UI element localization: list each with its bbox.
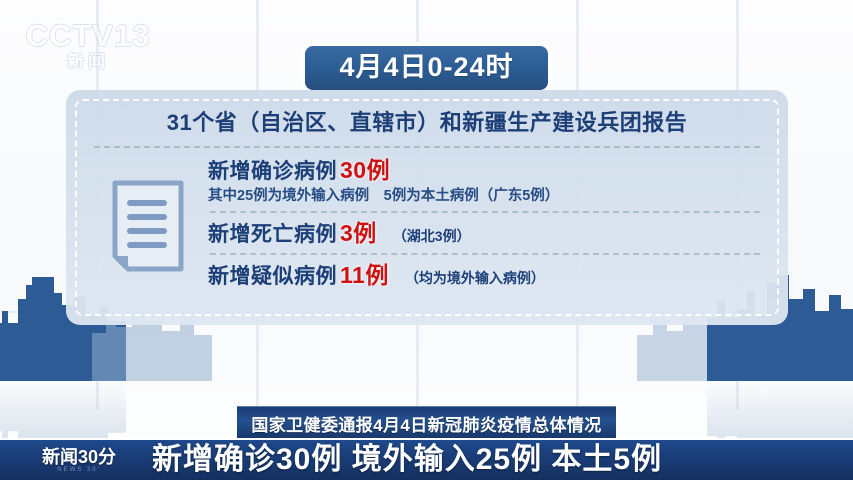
stats-rows: 新增确诊病例 30例 其中25例为境外输入病例 5例为本土病例（广东5例） 新增… (204, 150, 762, 295)
stat-label: 新增疑似病例 (208, 265, 337, 289)
stat-label: 新增确诊病例 (208, 160, 337, 184)
ticker-bottom-bar: 新闻30分 NEWS 30' 新增确诊30例 境外输入25例 本土5例 (0, 438, 853, 480)
stat-row-suspected: 新增疑似病例 11例 （均为境外输入病例） (208, 255, 762, 295)
document-icon (92, 150, 204, 295)
row-separator (210, 211, 760, 213)
date-banner: 4月4日0-24时 (305, 46, 547, 90)
date-banner-container: 4月4日0-24时 (0, 42, 853, 94)
stats-panel: 31个省（自治区、直辖市）和新疆生产建设兵团报告 (66, 90, 788, 325)
program-logo-badge: 新闻30分 NEWS 30' (24, 445, 134, 475)
ticker-top-container: 国家卫健委通报4月4日新冠肺炎疫情总体情况 (0, 406, 853, 441)
stat-value: 30例 (340, 157, 390, 183)
headline-text: 新增确诊30例 境外输入25例 本土5例 (152, 445, 662, 475)
stat-row-deaths: 新增死亡病例 3例 （湖北3例） (208, 213, 762, 253)
date-banner-glow: 4月4日0-24时 (301, 42, 551, 94)
row-separator (210, 253, 760, 255)
program-logo-text: 新闻30分 (42, 448, 116, 466)
stat-note: （湖北3例） (393, 228, 471, 244)
stat-subtext: 其中25例为境外输入病例 5例为本土病例（广东5例） (208, 188, 762, 205)
stat-value: 11例 (340, 262, 389, 288)
program-logo-subtext: NEWS 30' (57, 467, 101, 473)
stat-label: 新增死亡病例 (208, 223, 337, 247)
panel-separator-top (94, 146, 760, 148)
stat-value: 3例 (340, 220, 377, 246)
stat-note: （均为境外输入病例） (405, 270, 545, 286)
ticker-subtitle: 国家卫健委通报4月4日新冠肺炎疫情总体情况 (237, 406, 615, 441)
stat-row-confirmed: 新增确诊病例 30例 其中25例为境外输入病例 5例为本土病例（广东5例） (208, 150, 762, 211)
panel-heading: 31个省（自治区、直辖市）和新疆生产建设兵团报告 (92, 110, 762, 146)
broadcast-screen: CCTV13 新闻 4月4日0-24时 31个省（自治区、直辖市）和新疆生产建设… (0, 0, 853, 480)
